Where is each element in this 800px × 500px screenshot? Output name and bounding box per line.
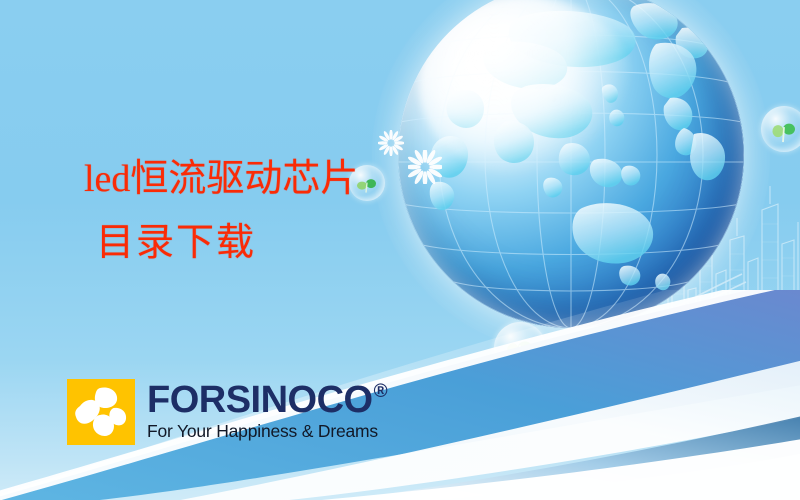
brand-tagline: For Your Happiness & Dreams [147,421,387,441]
headline-line-2: 目录下载 [96,224,504,262]
company-logo: FORSINOCO® For Your Happiness & Dreams [67,379,387,445]
promo-banner: led恒流驱动芯片 目录下载 [0,0,800,500]
headline-block: led恒流驱动芯片 目录下载 [84,160,504,262]
brand-word: FORSINOCO [147,381,373,419]
white-flower-small-icon [378,130,404,156]
globe-highlight [419,0,634,176]
eco-bubble-edge [761,106,800,152]
headline-line-1: led恒流驱动芯片 [84,160,504,198]
registered-trademark-icon: ® [374,382,388,401]
sprout-icon [769,118,799,144]
logo-text-block: FORSINOCO® For Your Happiness & Dreams [147,379,387,441]
forsinoco-pinwheel-mark-icon [67,379,135,445]
brand-name: FORSINOCO® [147,381,387,419]
